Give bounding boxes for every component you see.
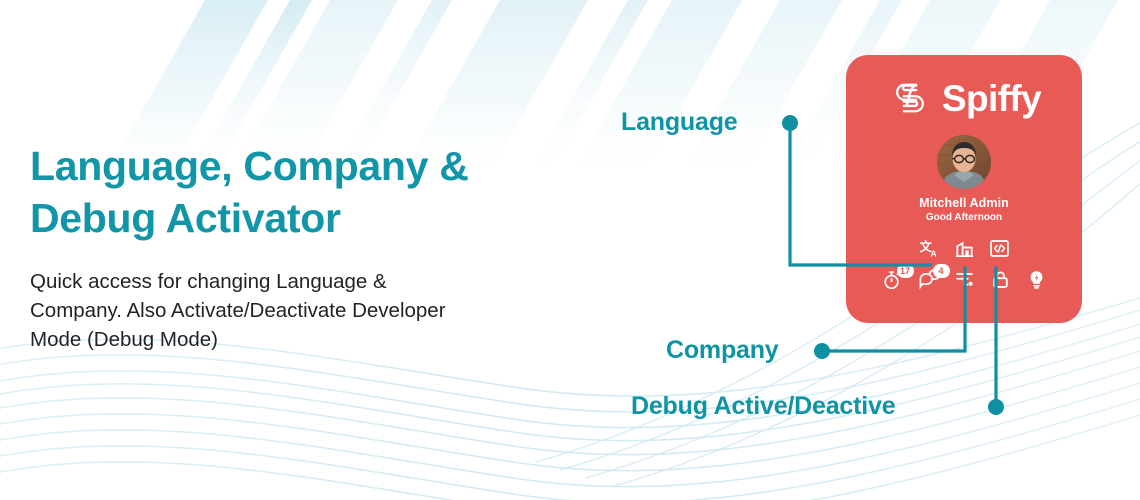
- connector-dot-debug: [988, 399, 1004, 415]
- avatar-photo: [937, 135, 991, 189]
- spiffy-user-card: Spiffy: [846, 55, 1082, 323]
- callout-label-language: Language: [621, 108, 737, 137]
- lock-icon[interactable]: [990, 269, 1011, 290]
- svg-text:A: A: [930, 249, 936, 259]
- user-name: Mitchell Admin: [846, 196, 1082, 210]
- primary-icon-row: 文 A: [846, 238, 1082, 259]
- translate-language-icon[interactable]: 文 A: [919, 238, 940, 259]
- debug-code-icon[interactable]: [989, 238, 1010, 259]
- lightbulb-idea-icon[interactable]: [1026, 269, 1047, 290]
- callout-label-company: Company: [666, 336, 779, 365]
- hero-text-block: Language, Company & Debug Activator Quic…: [30, 140, 550, 354]
- greeting-text: Good Afternoon: [846, 212, 1082, 223]
- spiffy-loop-logo-icon: [887, 75, 933, 121]
- chat-badge: 4: [933, 264, 950, 278]
- brand-logo: Spiffy: [846, 55, 1082, 121]
- company-building-icon[interactable]: [954, 238, 975, 259]
- timer-badge: 17: [897, 264, 914, 278]
- secondary-icon-row: 17 4: [846, 269, 1082, 290]
- connector-dot-company: [814, 343, 830, 359]
- chat-messages-icon[interactable]: 4: [918, 269, 939, 290]
- brand-name: Spiffy: [942, 80, 1041, 117]
- page-title: Language, Company & Debug Activator: [30, 140, 550, 245]
- page-subtitle: Quick access for changing Language & Com…: [30, 267, 470, 354]
- timer-clock-icon[interactable]: 17: [882, 269, 903, 290]
- connector-dot-language: [782, 115, 798, 131]
- avatar: [937, 135, 991, 189]
- callout-label-debug: Debug Active/Deactive: [631, 392, 895, 421]
- activities-icon[interactable]: [954, 269, 975, 290]
